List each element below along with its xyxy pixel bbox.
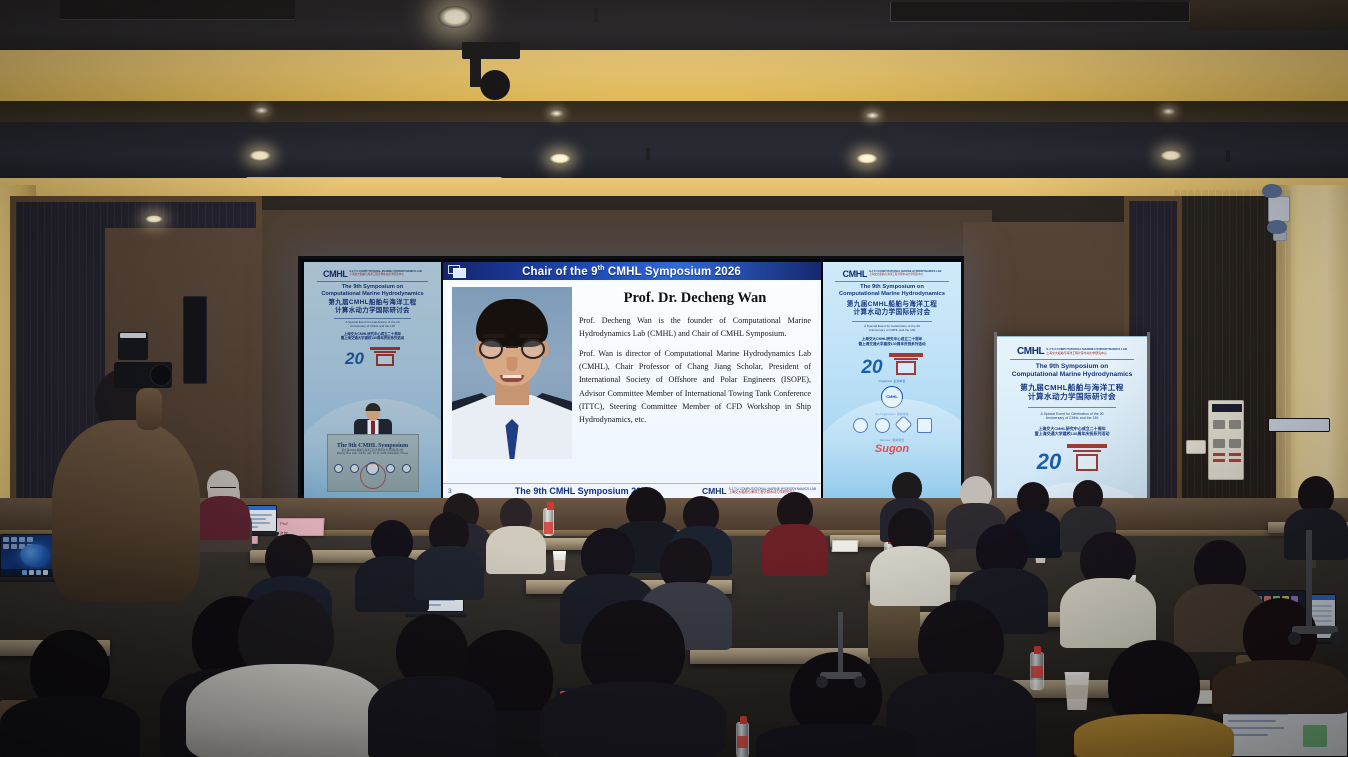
podium-logo: [350, 464, 359, 473]
sjtu-gate-icon: [1067, 442, 1107, 472]
coorganizer-badge-row: [827, 418, 957, 433]
av-cart-post: [1306, 530, 1312, 630]
conference-hall-scene: CMHL S.J.T.U COMPUTATIONAL MARINE HYDROD…: [0, 0, 1348, 757]
banner-rule: [1028, 407, 1116, 408]
portrait-of-prof-decheng-wan: [452, 287, 572, 459]
photographer-arm: [136, 388, 162, 430]
audience-member: [1284, 476, 1348, 552]
eyeglasses-icon: [210, 487, 236, 493]
paper-sheet: [832, 540, 859, 552]
ceiling-downlight: [249, 150, 271, 161]
audience-member: [368, 614, 496, 757]
audience-member: [486, 498, 546, 568]
banner-title-cn-2: 计算水动力学国际研讨会: [1003, 392, 1141, 401]
organizer-badge: CMHL: [881, 386, 903, 408]
ceiling-light-speck: [550, 110, 563, 117]
desk-cart-post: [838, 612, 843, 676]
audience-member: [870, 508, 950, 600]
audience-member-with-glasses: [196, 470, 250, 532]
podium-logo: [402, 464, 411, 473]
banner-subtitle-cn-2: 暨上海交通大学建校130周年庆祝系列活动: [1003, 431, 1141, 436]
banner-rule: [1010, 359, 1134, 360]
poster-subtitle-cn-2: 暨上海交通大学建校130周年庆祝系列活动: [827, 342, 957, 347]
conference-poster: CMHL S.J.T.U COMPUTATIONAL MARINE HYDROD…: [823, 262, 961, 498]
led-panel-center-slide: Chair of the 9th CMHL Symposium 2026: [443, 262, 821, 498]
poster-rule: [852, 321, 933, 322]
led-panel-left-live-feed: CMHL S.J.T.U COMPUTATIONAL MARINE HYDROD…: [304, 262, 441, 498]
cmhl-logo-mark: CMHL: [702, 486, 727, 496]
speaker-hair: [365, 403, 380, 411]
sponsor-logo-sugon: Sugon: [827, 444, 957, 455]
audience-member: [414, 512, 484, 592]
poster-rule: [835, 281, 949, 282]
audience-member: [0, 630, 140, 757]
poster-logo-mark: CMHL: [843, 269, 867, 279]
podium-seal: [360, 463, 386, 489]
switch-panel-label: [1212, 404, 1242, 412]
emergency-light-fixture: [1268, 196, 1290, 222]
slide-header-bar: Chair of the 9th CMHL Symposium 2026: [443, 262, 821, 280]
ceiling-sprinkler: [1226, 150, 1230, 162]
poster-section-sponsor: Sponsor 赞助单位: [827, 438, 957, 442]
switch-indicator: [1229, 453, 1241, 456]
poster-subtitle-en-2: Anniversary of CMHL and the 130: [827, 329, 957, 333]
poster-title-cn-1: 第九届CMHL船舶与海洋工程: [827, 301, 957, 309]
ceiling-light-speck: [1162, 108, 1175, 115]
ceiling-recess-left: [60, 0, 295, 20]
switch-button[interactable]: [1229, 420, 1241, 429]
coorganizer-badge: [875, 418, 890, 433]
ceiling-light-speck: [255, 107, 268, 114]
audience-member: [1060, 532, 1156, 636]
coorganizer-badge: [894, 415, 912, 433]
emergency-light-base: [1273, 232, 1287, 241]
switch-button[interactable]: [1213, 439, 1225, 448]
ceiling-light-speck: [866, 112, 879, 119]
speaker-name: Prof. Dr. Decheng Wan: [579, 290, 811, 307]
ceiling-downlight: [856, 153, 878, 164]
poster-logo: CMHL S.J.T.U COMPUTATIONAL MARINE HYDROD…: [827, 265, 957, 279]
banner-logo: CMHL S.J.T.U COMPUTATIONAL MARINE HYDROD…: [1003, 342, 1141, 357]
av-cart-wheel: [1288, 632, 1301, 645]
banner-emblems: 20: [1003, 442, 1141, 472]
slide-title-tail: CMHL Symposium 2026: [605, 265, 741, 277]
banner-subtitle-en-2: Anniversary of CMHL and the 130: [1003, 416, 1141, 420]
switch-button[interactable]: [1229, 439, 1241, 448]
name-card-line1: Prof.: [277, 519, 324, 529]
led-video-wall: CMHL S.J.T.U COMPUTATIONAL MARINE HYDROD…: [298, 256, 964, 498]
laptop-screen[interactable]: [1268, 418, 1330, 432]
switch-button[interactable]: [1213, 420, 1225, 429]
audience-member: [756, 652, 916, 757]
live-camera-feed: CMHL S.J.T.U COMPUTATIONAL MARINE HYDROD…: [304, 262, 441, 498]
bio-paragraph-1: Prof. Decheng Wan is the founder of Comp…: [579, 314, 811, 340]
banner-logo-line-cn: 上海交大船舶与海洋工程计算水动力学研究中心: [1046, 352, 1107, 355]
ceiling-downlight: [1160, 150, 1182, 161]
ceiling-downlight: [438, 6, 472, 28]
ceiling-sprinkler: [594, 8, 598, 24]
audience-member: [1212, 598, 1348, 708]
podium-logo: [386, 464, 395, 473]
laptop-on-cart[interactable]: [1268, 418, 1330, 438]
slide-title-main: Chair of the 9: [522, 265, 598, 277]
presentation-slide: Chair of the 9th CMHL Symposium 2026: [443, 262, 821, 498]
poster-title-line-2: Computational Marine Hydrodynamics: [827, 291, 957, 298]
banner-title-line-2: Computational Marine Hydrodynamics: [1003, 371, 1141, 379]
camera-dome: [480, 70, 510, 100]
av-cart-wheel: [1330, 632, 1343, 645]
bio-paragraph-2: Prof. Wan is director of Computational M…: [579, 347, 811, 426]
podium-logo: [334, 464, 343, 473]
banner-logo-mark: CMHL: [1017, 346, 1044, 357]
banner-title-line-1: The 9th Symposium on: [1003, 363, 1141, 371]
ceiling-mid-slab: [0, 122, 1348, 180]
ceiling-sprinkler: [646, 148, 650, 160]
poster-logo-lines: S.J.T.U COMPUTATIONAL MARINE HYDRODYNAMI…: [869, 271, 941, 276]
audience-member: [762, 492, 828, 568]
podium: The 9th CMHL Symposium 第九届CMHL船舶与海洋工程计算水…: [327, 434, 419, 492]
poster-section-coorganizer: Co-Organizers 协办单位: [827, 412, 957, 416]
slide-content: Prof. Dr. Decheng Wan Prof. Decheng Wan …: [447, 282, 817, 482]
poster-emblems: 20: [827, 351, 957, 376]
ceiling-camera: [462, 42, 524, 100]
banner-logo-lines: S.J.T.U COMPUTATIONAL MARINE HYDRODYNAMI…: [1046, 348, 1127, 354]
coorganizer-badge: [853, 418, 868, 433]
coorganizer-badge: [917, 418, 932, 433]
podium-date-line: Beijing Time 9:00 - 18:00, Jan. 10-11, 2…: [337, 452, 408, 455]
ceiling-amber-band-upper: [0, 50, 1348, 102]
slide-title: Chair of the 9th CMHL Symposium 2026: [468, 265, 821, 278]
switch-indicator: [1229, 459, 1241, 462]
camera-flash: [118, 332, 148, 360]
audience-member-yellow-jacket: [1074, 640, 1234, 757]
ceiling-recess-right: [890, 2, 1190, 22]
switch-indicator: [1213, 459, 1225, 462]
banner-title-cn-1: 第九届CMHL船舶与海洋工程: [1003, 383, 1141, 392]
poster-section-organizer: Organizer 主办单位: [827, 379, 957, 383]
desk-cart-wheel: [816, 676, 828, 688]
light-switch-panel[interactable]: [1208, 400, 1244, 480]
water-bottle: [736, 722, 749, 757]
slide-bio-block: Prof. Dr. Decheng Wan Prof. Decheng Wan …: [579, 287, 811, 482]
audience-member: [540, 600, 726, 757]
led-panel-right-poster: CMHL S.J.T.U COMPUTATIONAL MARINE HYDROD…: [823, 262, 961, 498]
desk-cart-wheel: [854, 676, 866, 688]
wall-washer-light: [145, 215, 163, 223]
audience-member-white-jacket: [186, 590, 386, 757]
ceiling-downlight: [549, 153, 571, 164]
camera-lens: [150, 364, 172, 386]
ceiling-recess-corner: [1190, 0, 1348, 30]
poster-logo-line-cn: 上海交大船舶与海洋工程计算水动力学研究中心: [869, 274, 923, 277]
sjtu-gate-icon: [889, 351, 923, 376]
poster-title-line-1: The 9th Symposium on: [827, 284, 957, 291]
anniversary-20-icon: 20: [1037, 453, 1061, 472]
switch-indicator: [1213, 453, 1225, 456]
poster-title-cn-2: 计算水动力学国际研讨会: [827, 309, 957, 317]
slide-title-sup: th: [598, 265, 605, 272]
anniversary-20-icon: 20: [861, 360, 882, 376]
podium-sign: The 9th CMHL Symposium 第九届CMHL船舶与海洋工程计算水…: [333, 439, 413, 459]
wall-socket[interactable]: [1186, 440, 1206, 454]
powerpoint-window-icon: [448, 265, 468, 278]
